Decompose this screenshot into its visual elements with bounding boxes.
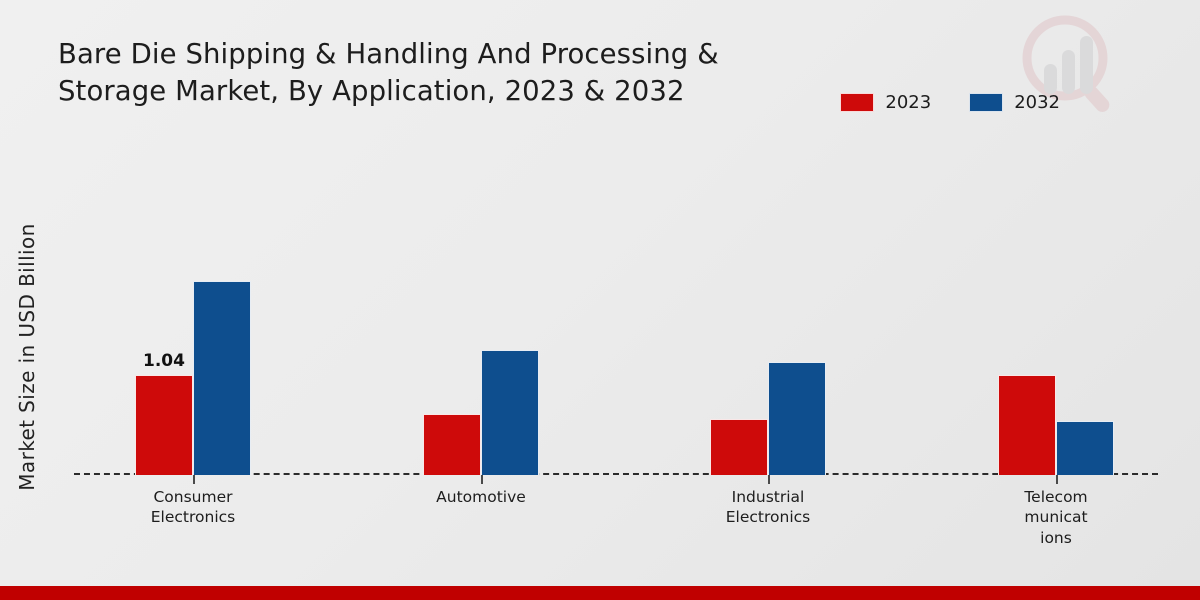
bar-group-consumer-electronics: 1.04 Consumer Electronics: [135, 150, 251, 475]
x-axis-tick: [481, 475, 483, 484]
legend-swatch-2032: [969, 93, 1003, 112]
bar-value-label: 1.04: [143, 351, 185, 371]
bar-group-industrial-electronics: Industrial Electronics: [710, 150, 826, 475]
label-line: ions: [981, 528, 1131, 548]
bar-2032-automotive[interactable]: [481, 350, 539, 475]
bar-2023-industrial-electronics[interactable]: [710, 419, 768, 475]
bar-2032-industrial-electronics[interactable]: [768, 362, 826, 475]
legend-item-2023[interactable]: 2023: [840, 92, 931, 113]
label-line: municat: [981, 507, 1131, 527]
bar-group-automotive: Automotive: [423, 150, 539, 475]
bar-pair: [423, 150, 539, 475]
x-axis-tick: [193, 475, 195, 484]
bar-2023-telecommunications[interactable]: [998, 375, 1056, 475]
x-axis-label-automotive: Automotive: [406, 487, 556, 507]
y-axis-label: Market Size in USD Billion: [15, 177, 39, 537]
bar-2032-consumer-electronics[interactable]: [193, 281, 251, 475]
legend-label-2023: 2023: [885, 92, 931, 113]
legend-item-2032[interactable]: 2032: [969, 92, 1060, 113]
chart-title: Bare Die Shipping & Handling And Process…: [58, 36, 818, 111]
x-axis-label-industrial-electronics: Industrial Electronics: [693, 487, 843, 528]
legend-label-2032: 2032: [1014, 92, 1060, 113]
chart-legend: 2023 2032: [840, 92, 1060, 113]
label-line: Industrial: [693, 487, 843, 507]
x-axis-tick: [1056, 475, 1058, 484]
legend-swatch-2023: [840, 93, 874, 112]
bar-pair: 1.04: [135, 150, 251, 475]
label-line: Consumer: [118, 487, 268, 507]
label-line: Electronics: [693, 507, 843, 527]
label-line: Automotive: [406, 487, 556, 507]
chart-page: Bare Die Shipping & Handling And Process…: [0, 0, 1200, 600]
footer-accent-bar: [0, 586, 1200, 600]
plot-area: 1.04 Consumer Electronics Automotive: [60, 150, 1160, 475]
label-line: Electronics: [118, 507, 268, 527]
label-line: Telecom: [981, 487, 1131, 507]
bar-group-telecommunications: Telecom municat ions: [998, 150, 1114, 475]
bar-pair: [710, 150, 826, 475]
bar-2023-automotive[interactable]: [423, 414, 481, 475]
bar-2023-consumer-electronics[interactable]: 1.04: [135, 375, 193, 475]
x-axis-label-telecommunications: Telecom municat ions: [981, 487, 1131, 548]
x-axis-label-consumer-electronics: Consumer Electronics: [118, 487, 268, 528]
bar-2032-telecommunications[interactable]: [1056, 421, 1114, 475]
bar-pair: [998, 150, 1114, 475]
x-axis-tick: [768, 475, 770, 484]
